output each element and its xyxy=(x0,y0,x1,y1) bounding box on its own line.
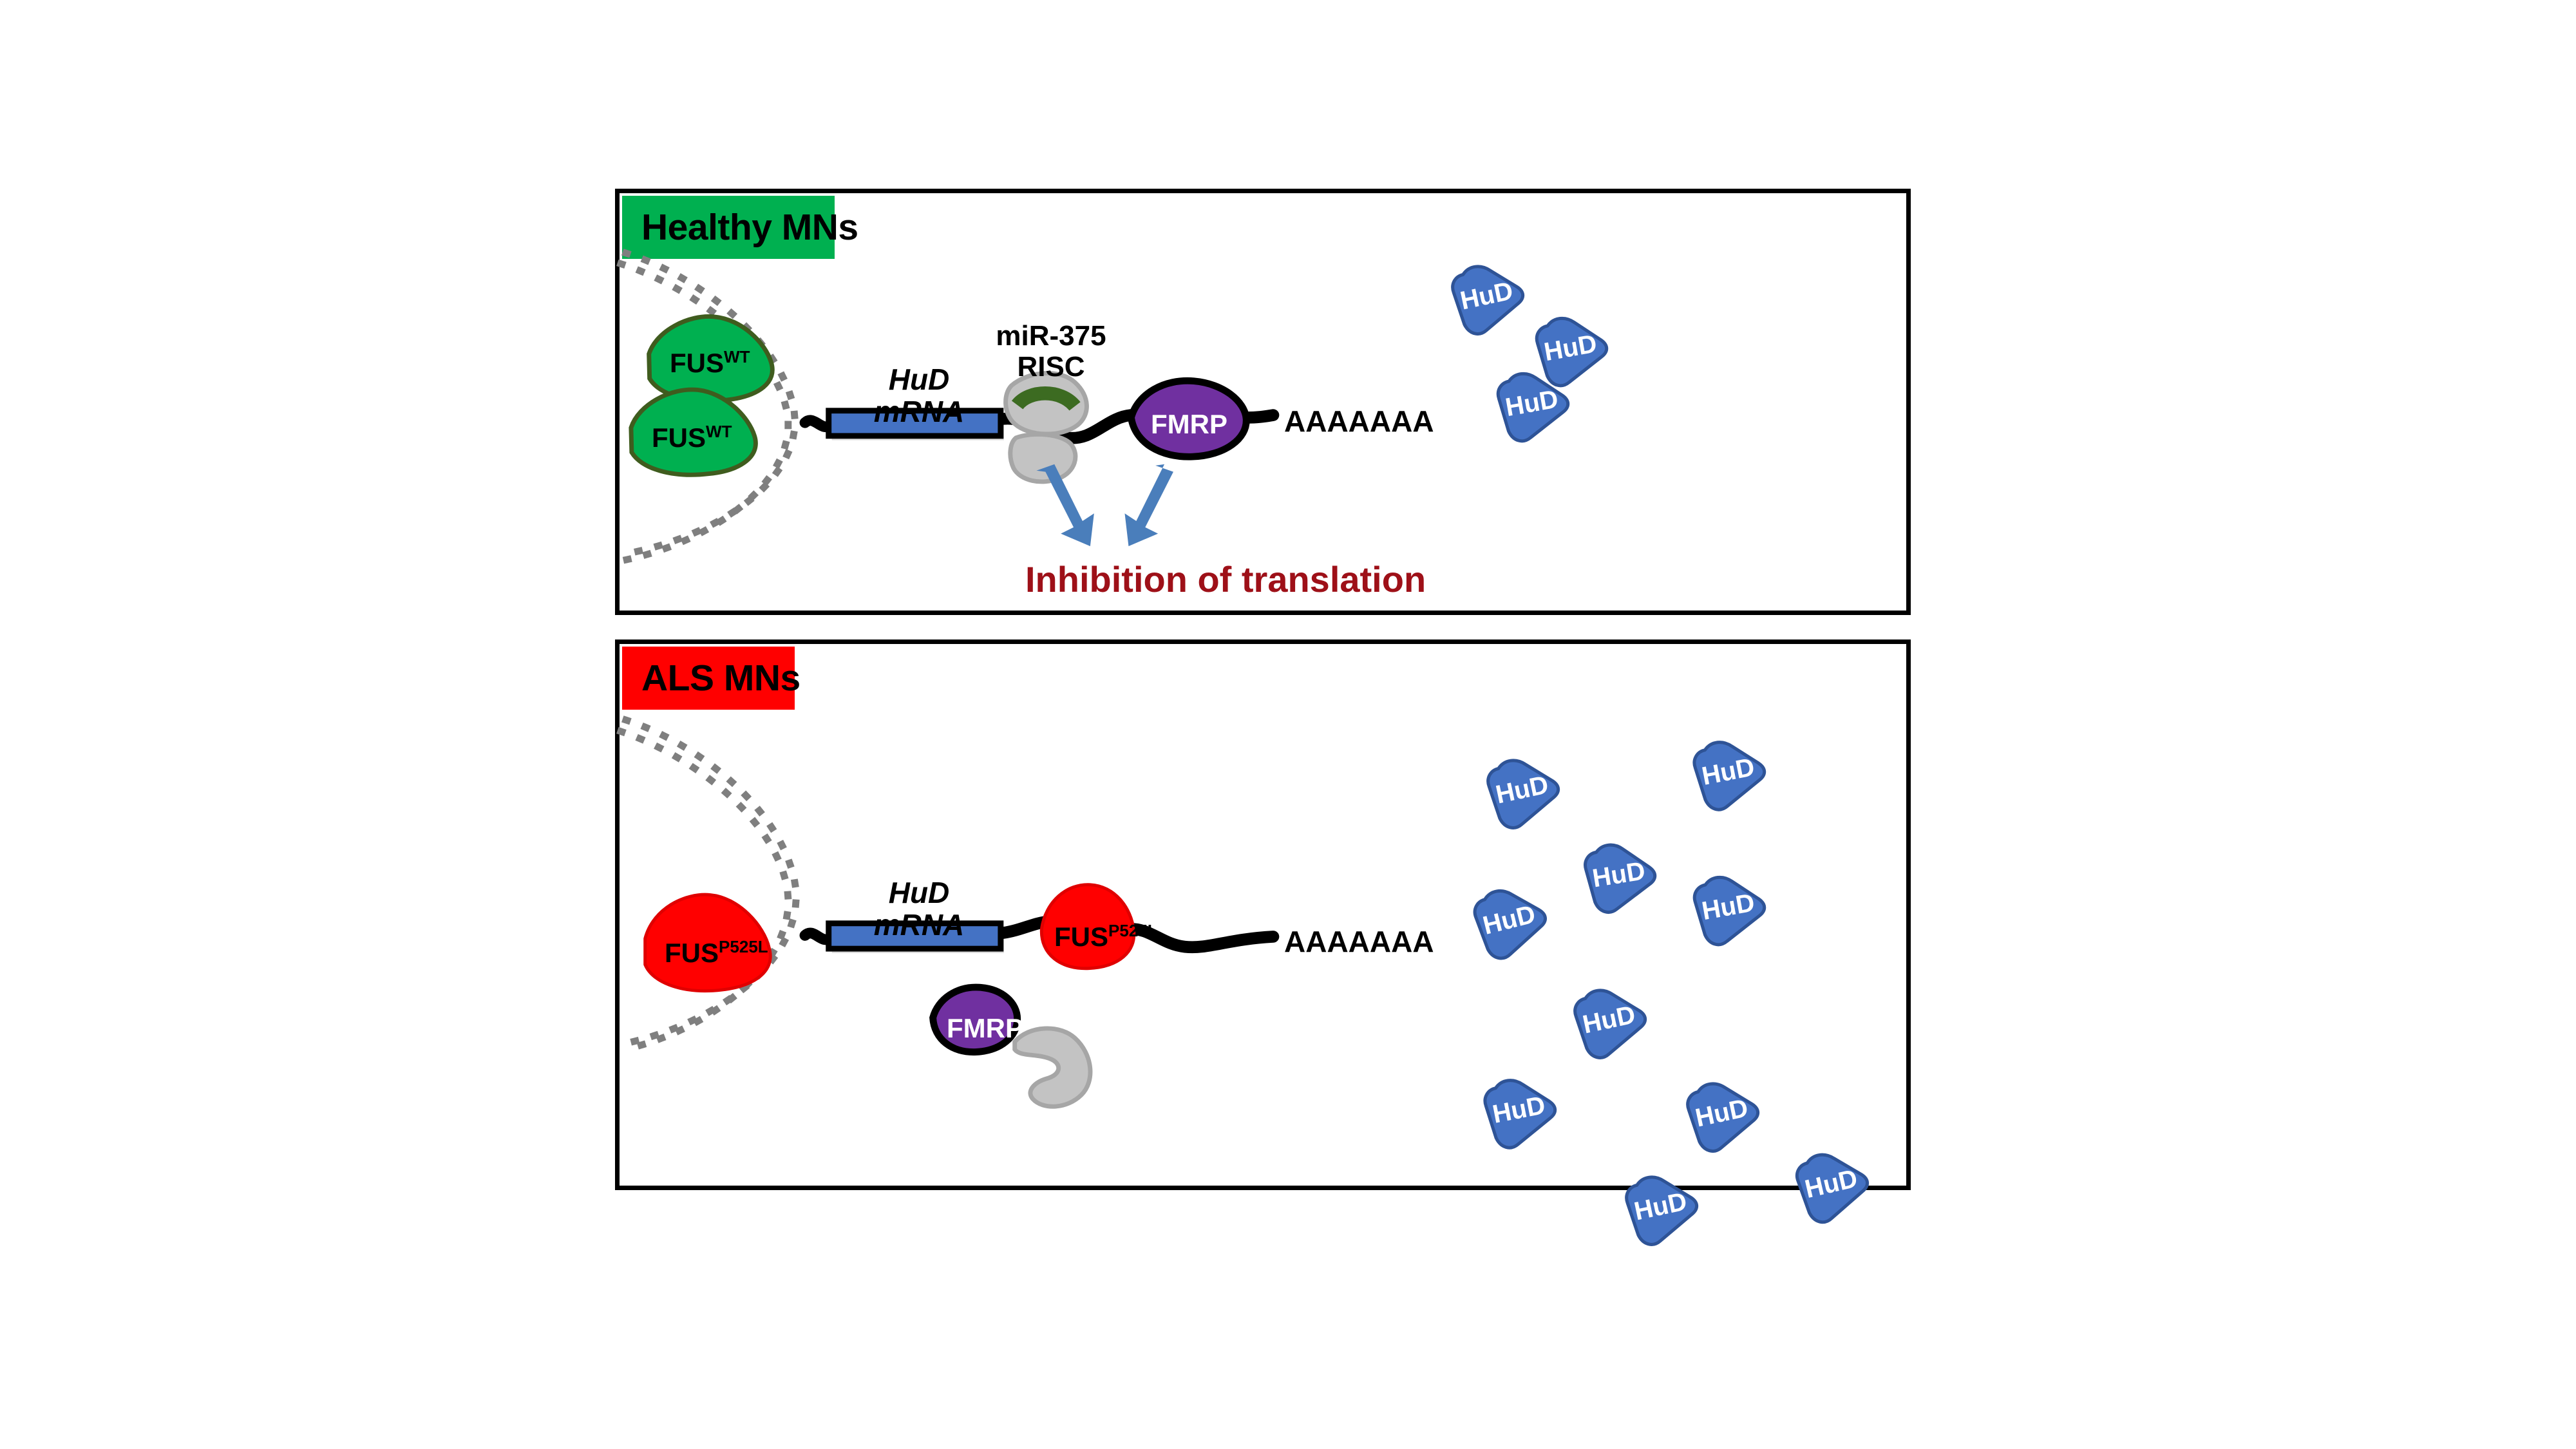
hud-protein: HuD xyxy=(1490,361,1578,450)
hud-protein: HuD xyxy=(1476,1067,1565,1156)
panel-als-mns: ALS MNs FUSP525L FUSP525L xyxy=(615,639,1911,1190)
figure-canvas: Healthy MNs FUSWT FUSWT xyxy=(0,0,2576,1449)
hud-protein-shape xyxy=(1577,833,1663,920)
hud-protein-shape xyxy=(1678,1070,1768,1160)
fus-wt-blob-1 xyxy=(649,316,773,401)
hud-protein: HuD xyxy=(1443,252,1533,343)
hud-protein-shape xyxy=(1566,976,1656,1066)
fus-mut-nuclear-label: FUSP525L xyxy=(665,937,768,969)
hud-mrna-label-healthy: HuD mRNA xyxy=(861,364,977,428)
arrow-left-down xyxy=(1036,464,1094,546)
hud-protein: HuD xyxy=(1787,1140,1879,1231)
hud-protein-shape xyxy=(1490,361,1578,450)
hud-protein: HuD xyxy=(1685,729,1774,818)
mir375-risc-label: miR-375 RISC xyxy=(977,321,1125,382)
hud-protein: HuD xyxy=(1566,976,1656,1066)
hud-protein-shape xyxy=(1617,1163,1707,1253)
mir-375-strand xyxy=(1018,393,1075,406)
hud-protein: HuD xyxy=(1686,865,1774,953)
polya-tail-label-als: AAAAAAA xyxy=(1284,926,1434,958)
hud-protein-shape xyxy=(1685,729,1774,818)
hud-protein: HuD xyxy=(1479,746,1569,837)
hud-protein-shape xyxy=(1787,1140,1879,1231)
polya-tail-label-healthy: AAAAAAA xyxy=(1284,406,1434,438)
panel-title-healthy: Healthy MNs xyxy=(622,196,835,259)
hud-protein: HuD xyxy=(1617,1163,1707,1253)
fus-mut-cytoplasmic-label: FUSP525L xyxy=(1054,921,1158,952)
fus-wt-label-2: FUSWT xyxy=(652,422,732,453)
hud-protein-shape xyxy=(1479,746,1569,837)
fus-wt-blob-2 xyxy=(631,390,756,475)
hud-protein-shape xyxy=(1476,1067,1565,1156)
hud-protein-shape xyxy=(1464,875,1557,967)
hud-protein: HuD xyxy=(1678,1070,1768,1160)
hud-protein: HuD xyxy=(1577,833,1663,920)
fmrp-label-als: FMRP xyxy=(947,1013,1023,1044)
arrow-right-down xyxy=(1125,464,1173,546)
fus-wt-label-1: FUSWT xyxy=(670,347,750,379)
hud-protein: HuD xyxy=(1464,875,1557,967)
panel-healthy-mns: Healthy MNs FUSWT FUSWT xyxy=(615,189,1911,615)
inhibition-of-translation-text: Inhibition of translation xyxy=(1025,560,1426,599)
hud-mrna-label-als: HuD mRNA xyxy=(861,877,977,941)
fmrp-label-healthy: FMRP xyxy=(1151,409,1227,440)
hud-protein-shape xyxy=(1443,252,1533,343)
hud-protein-shape xyxy=(1686,865,1774,953)
panel-title-als: ALS MNs xyxy=(622,647,795,710)
